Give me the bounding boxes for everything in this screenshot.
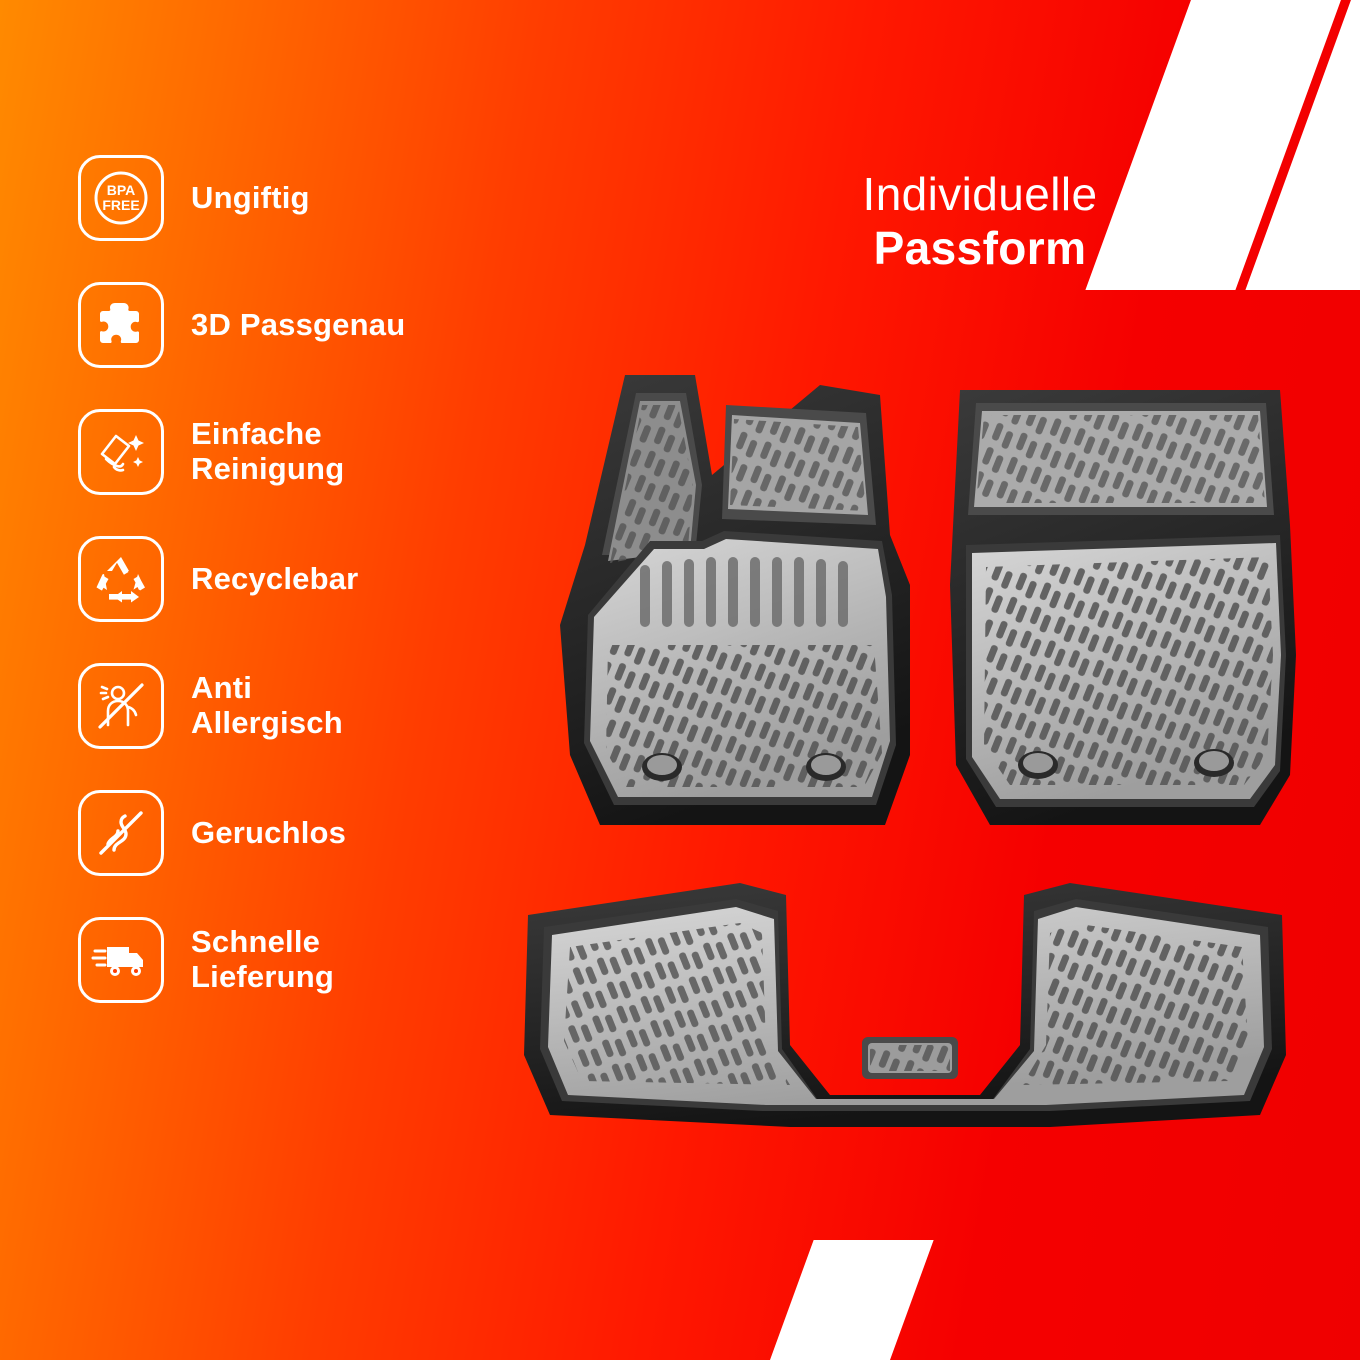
feature-item-3d-passgenau: 3D Passgenau bbox=[78, 282, 548, 368]
feature-item-schnelle-lieferung: Schnelle Lieferung bbox=[78, 917, 548, 1003]
title-line-1: Individuelle bbox=[700, 168, 1260, 221]
feature-label: Anti Allergisch bbox=[191, 671, 343, 740]
easy-cleaning-icon bbox=[78, 409, 164, 495]
feature-label: Geruchlos bbox=[191, 816, 346, 851]
feature-label: Schnelle Lieferung bbox=[191, 925, 334, 994]
svg-text:FREE: FREE bbox=[102, 197, 139, 213]
svg-text:BPA: BPA bbox=[107, 182, 136, 198]
rear-bench-mat bbox=[524, 883, 1286, 1127]
recycle-icon bbox=[78, 536, 164, 622]
feature-item-anti-allergisch: Anti Allergisch bbox=[78, 663, 548, 749]
feature-label: Ungiftig bbox=[191, 181, 310, 216]
feature-list: BPA FREE Ungiftig 3D Passgenau bbox=[78, 155, 548, 1044]
feature-item-einfache-reinigung: Einfache Reinigung bbox=[78, 409, 548, 495]
anti-allergic-icon bbox=[78, 663, 164, 749]
front-left-mat bbox=[560, 375, 910, 825]
feature-item-geruchlos: Geruchlos bbox=[78, 790, 548, 876]
decorative-slash-bottom bbox=[766, 1240, 933, 1360]
bpa-free-icon: BPA FREE bbox=[78, 155, 164, 241]
front-right-mat bbox=[950, 390, 1296, 825]
promo-banner: BPA FREE Ungiftig 3D Passgenau bbox=[0, 0, 1360, 1360]
feature-label: Recyclebar bbox=[191, 562, 358, 597]
puzzle-piece-icon bbox=[78, 282, 164, 368]
fast-delivery-truck-icon bbox=[78, 917, 164, 1003]
feature-item-ungiftig: BPA FREE Ungiftig bbox=[78, 155, 548, 241]
product-image bbox=[490, 355, 1320, 1185]
feature-label: 3D Passgenau bbox=[191, 308, 405, 343]
feature-label: Einfache Reinigung bbox=[191, 417, 344, 486]
odorless-icon bbox=[78, 790, 164, 876]
feature-item-recyclebar: Recyclebar bbox=[78, 536, 548, 622]
page-title: Individuelle Passform bbox=[700, 168, 1260, 275]
title-line-2: Passform bbox=[700, 221, 1260, 275]
